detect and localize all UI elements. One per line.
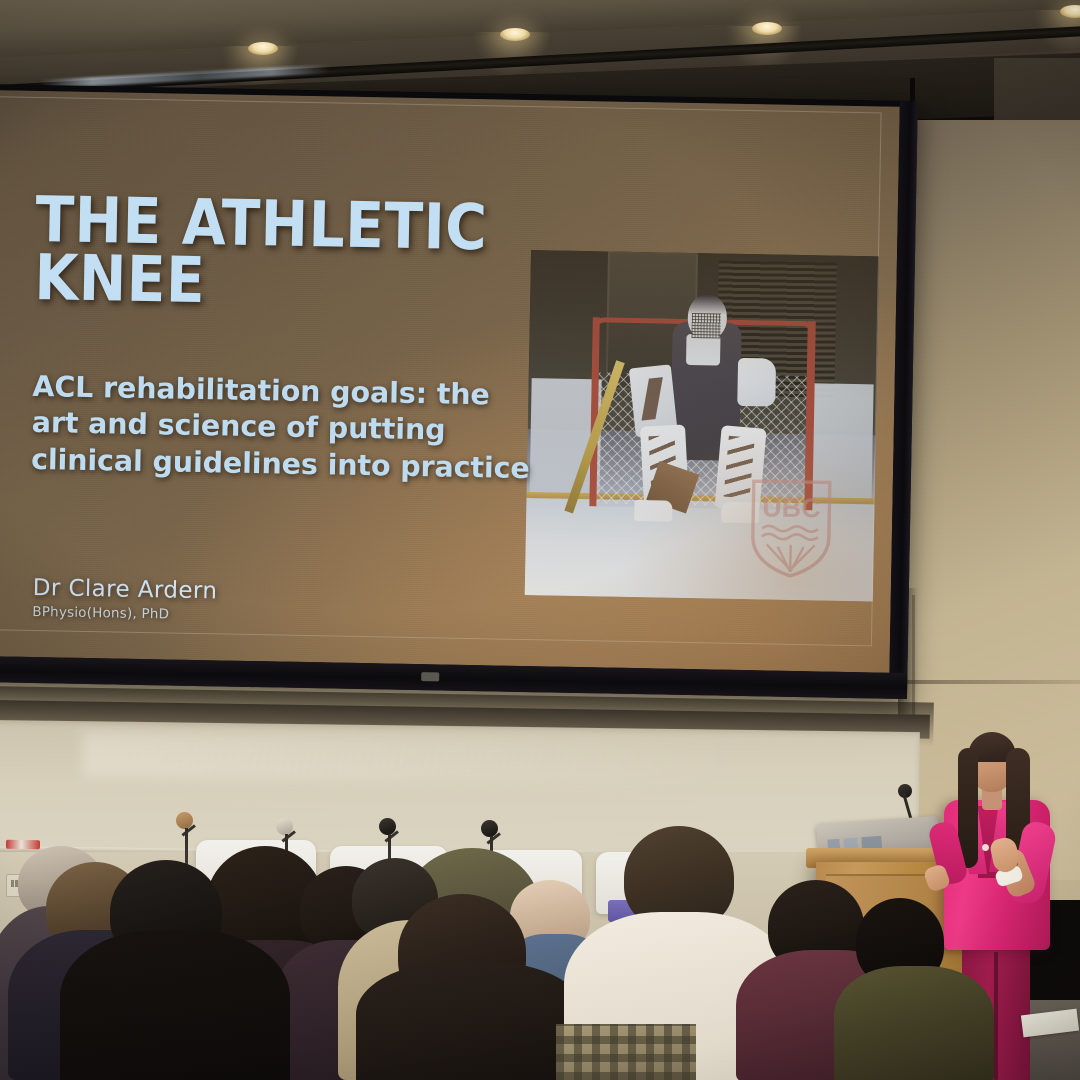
downlight-icon-1 [248,42,278,55]
wall-seam-horizontal [900,680,1080,684]
whiteboard-marker[interactable] [6,840,40,849]
downlight-icon-2 [500,28,530,41]
downlight-icon-3 [752,22,782,35]
whiteboard[interactable] [0,720,920,864]
microphone-2-head [276,818,293,835]
projection-screen-surface: UBC [0,90,900,673]
audience-member-11-body [834,966,994,1080]
projection-screen[interactable]: UBC [0,84,918,699]
audience-member-5-hair [356,962,586,1080]
plaid-bag [556,1024,696,1080]
slide-vignette [0,90,900,673]
presentation-slide: UBC [0,90,900,673]
presenter-trouser-seam [994,952,998,1080]
whiteboard-glare [82,732,734,785]
audience-member-3b-hair [60,930,290,1080]
lecture-hall-scene: UBC [0,0,1080,1080]
microphone-1-head [176,812,193,829]
screen-weight-bar-nub [421,672,439,681]
microphone-3-head [379,818,396,835]
microphone-4-head [481,820,498,837]
presenter-lapel-pin [982,844,989,851]
